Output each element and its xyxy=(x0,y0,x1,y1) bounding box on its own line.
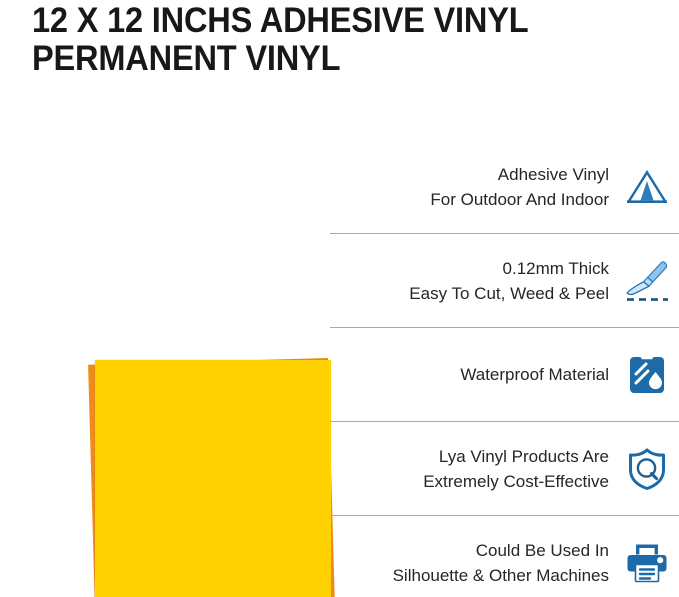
feature-line-2: Silhouette & Other Machines xyxy=(393,563,609,588)
feature-line-1: Could Be Used In xyxy=(393,538,609,563)
feature-line-1: Lya Vinyl Products Are xyxy=(423,444,609,469)
quality-shield-icon xyxy=(621,443,673,495)
feature-line-2: Easy To Cut, Weed & Peel xyxy=(409,281,609,306)
page-title: 12 X 12 INCHS ADHESIVE VINYL PERMANENT V… xyxy=(32,2,652,78)
feature-line-1: Waterproof Material xyxy=(460,362,609,387)
feature-text: Lya Vinyl Products Are Extremely Cost-Ef… xyxy=(423,444,621,494)
feature-row: Lya Vinyl Products Are Extremely Cost-Ef… xyxy=(330,422,679,516)
feature-row: 0.12mm Thick Easy To Cut, Weed & Peel xyxy=(330,234,679,328)
feature-row: Adhesive Vinyl For Outdoor And Indoor xyxy=(330,140,679,234)
title-line-1: 12 X 12 INCHS ADHESIVE VINYL xyxy=(32,2,609,40)
waterproof-icon xyxy=(621,349,673,401)
feature-line-1: 0.12mm Thick xyxy=(409,256,609,281)
feature-text: Could Be Used In Silhouette & Other Mach… xyxy=(393,538,621,588)
feature-text: Waterproof Material xyxy=(460,362,621,387)
product-infographic: 12 X 12 INCHS ADHESIVE VINYL PERMANENT V… xyxy=(0,0,679,597)
feature-row: Waterproof Material xyxy=(330,328,679,422)
feature-text: 0.12mm Thick Easy To Cut, Weed & Peel xyxy=(409,256,621,306)
feature-list: Adhesive Vinyl For Outdoor And Indoor 0.… xyxy=(330,140,679,597)
vinyl-sheet-fan xyxy=(0,96,340,597)
feature-line-1: Adhesive Vinyl xyxy=(430,162,609,187)
printer-icon xyxy=(621,537,673,589)
feature-line-2: For Outdoor And Indoor xyxy=(430,187,609,212)
feature-row: Could Be Used In Silhouette & Other Mach… xyxy=(330,516,679,597)
title-line-2: PERMANENT VINYL xyxy=(32,40,609,78)
feature-line-2: Extremely Cost-Effective xyxy=(423,469,609,494)
tent-icon xyxy=(621,161,673,213)
craft-knife-icon xyxy=(621,255,673,307)
front-sheet-yellow xyxy=(95,360,331,597)
feature-text: Adhesive Vinyl For Outdoor And Indoor xyxy=(430,162,621,212)
